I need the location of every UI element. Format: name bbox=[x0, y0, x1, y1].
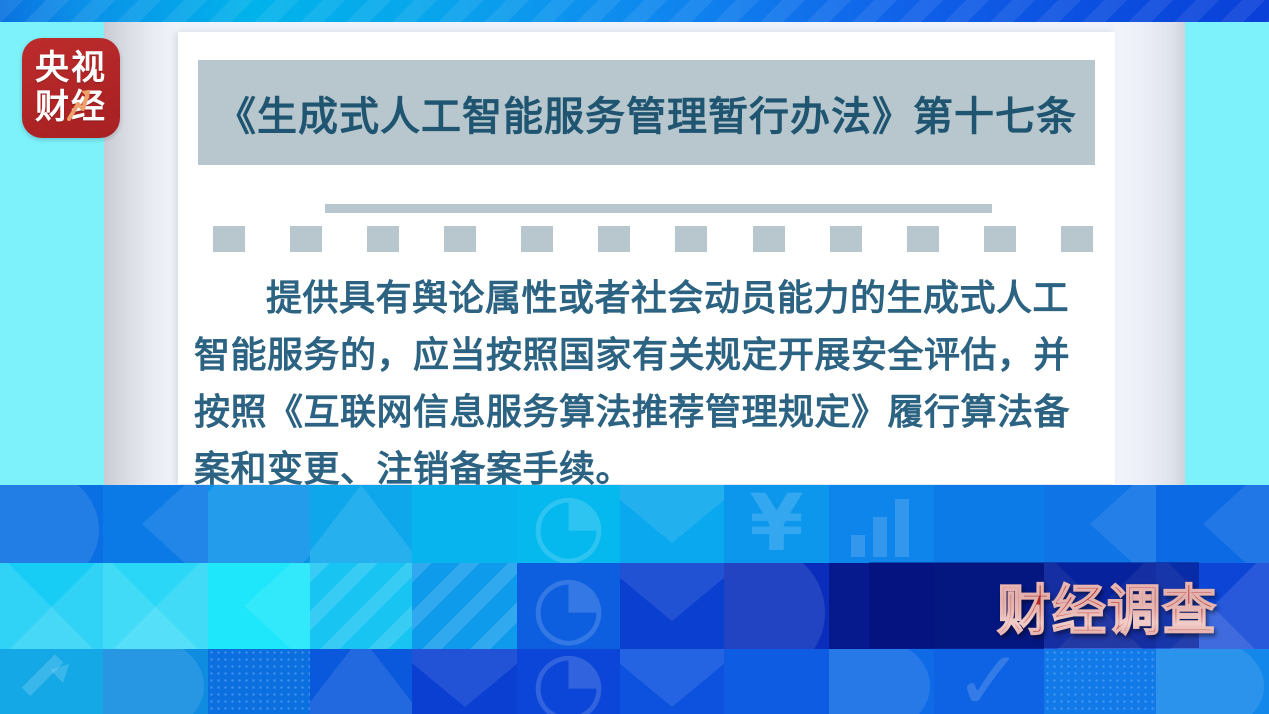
banner-tile bbox=[208, 485, 310, 563]
banner-tile bbox=[208, 649, 310, 714]
banner-row-top: ◔¥ bbox=[0, 485, 1269, 563]
banner-tile: ✓ bbox=[934, 649, 1044, 714]
triangle-left-icon bbox=[1090, 485, 1156, 563]
cross-diagonal-icon bbox=[0, 563, 103, 649]
banner-tile bbox=[934, 485, 1044, 563]
cross-diagonal-icon bbox=[103, 563, 208, 649]
banner-tile bbox=[208, 563, 310, 649]
dash-block bbox=[830, 226, 862, 252]
dot-texture bbox=[1044, 649, 1156, 714]
banner-tile bbox=[0, 563, 103, 649]
banner-tile bbox=[620, 563, 724, 649]
title-underline-bar bbox=[325, 204, 992, 213]
clock-icon: ◔ bbox=[517, 563, 620, 649]
banner-tile bbox=[310, 563, 412, 649]
cctv-finance-logo: 央视 财经 bbox=[22, 38, 120, 138]
triangle-left-icon bbox=[244, 563, 310, 649]
clock-icon: ◔ bbox=[517, 485, 620, 563]
dash-block bbox=[1061, 226, 1093, 252]
dash-block bbox=[213, 226, 245, 252]
banner-tile: ◔ bbox=[517, 649, 620, 714]
triangle-up-icon bbox=[310, 649, 412, 714]
banner-tile bbox=[1044, 485, 1156, 563]
dash-block bbox=[598, 226, 630, 252]
right-cyan-band bbox=[1185, 22, 1269, 485]
bottom-graphic-banner: ◔¥ ◔ ◔✓ 财经调查 bbox=[0, 485, 1269, 714]
dash-block bbox=[521, 226, 553, 252]
banner-tile bbox=[1044, 649, 1156, 714]
banner-tile: ¥ bbox=[724, 485, 829, 563]
banner-tile bbox=[724, 649, 829, 714]
chevron-down-icon bbox=[620, 649, 724, 707]
card-title-band: 《生成式人工智能服务管理暂行办法》第十七条 bbox=[198, 60, 1095, 165]
logo-line-one: 央视 bbox=[22, 51, 120, 85]
triangle-left-icon bbox=[1203, 485, 1269, 563]
banner-tile bbox=[412, 485, 517, 563]
bar-chart-icon bbox=[851, 535, 865, 557]
dash-block bbox=[675, 226, 707, 252]
triangle-up-icon bbox=[310, 485, 412, 563]
banner-tile bbox=[620, 649, 724, 714]
body-line: 提供具有舆论属性或者社会动员能力的生成式人工 bbox=[194, 270, 1099, 327]
dot-texture bbox=[208, 649, 310, 714]
triangle-left-icon bbox=[142, 485, 208, 563]
dash-block bbox=[444, 226, 476, 252]
diagonal-stripes bbox=[310, 563, 412, 649]
banner-tile: ◔ bbox=[517, 563, 620, 649]
check-icon: ✓ bbox=[934, 649, 1044, 714]
bar-chart-icon bbox=[873, 517, 887, 557]
dash-block bbox=[984, 226, 1016, 252]
banner-tile bbox=[103, 485, 208, 563]
dash-block bbox=[907, 226, 939, 252]
banner-tile bbox=[829, 649, 934, 714]
diagonal-stripes bbox=[412, 563, 517, 649]
dash-block bbox=[367, 226, 399, 252]
logo-line-two: 财经 bbox=[22, 90, 120, 124]
banner-tile bbox=[1156, 649, 1269, 714]
banner-tile bbox=[724, 563, 829, 649]
banner-tile bbox=[1156, 485, 1269, 563]
banner-tile bbox=[0, 649, 103, 714]
chevron-down-icon bbox=[620, 485, 724, 543]
circle-icon bbox=[103, 649, 204, 714]
banner-tile bbox=[103, 563, 208, 649]
banner-tile bbox=[0, 485, 103, 563]
banner-tile bbox=[620, 485, 724, 563]
body-line: 智能服务的，应当按照国家有关规定开展安全评估，并 bbox=[194, 327, 1099, 384]
banner-tile bbox=[829, 485, 934, 563]
dash-block bbox=[290, 226, 322, 252]
body-line: 按照《互联网信息服务算法推荐管理规定》履行算法备 bbox=[194, 384, 1099, 441]
banner-row-bottom: ◔✓ bbox=[0, 649, 1269, 714]
circle-icon bbox=[724, 563, 825, 649]
regulation-card: 《生成式人工智能服务管理暂行办法》第十七条 提供具有舆论属性或者社会动员能力的生… bbox=[178, 32, 1115, 484]
circle-icon bbox=[1156, 649, 1264, 714]
decorative-dash-row bbox=[213, 226, 1093, 252]
program-title: 财经调查 bbox=[997, 566, 1217, 645]
broadcast-screen: 《生成式人工智能服务管理暂行办法》第十七条 提供具有舆论属性或者社会动员能力的生… bbox=[0, 0, 1269, 714]
top-accent-bar bbox=[0, 0, 1269, 22]
chevron-down-icon bbox=[412, 649, 517, 707]
banner-tile bbox=[103, 649, 208, 714]
bar-chart-icon bbox=[895, 499, 909, 557]
program-logo: 财经调查 bbox=[997, 562, 1217, 648]
diamond-icon bbox=[208, 485, 310, 563]
regulation-body: 提供具有舆论属性或者社会动员能力的生成式人工 智能服务的，应当按照国家有关规定开… bbox=[194, 270, 1099, 498]
page-title: 《生成式人工智能服务管理暂行办法》第十七条 bbox=[216, 84, 1077, 142]
circle-icon bbox=[0, 485, 99, 563]
banner-tile bbox=[412, 563, 517, 649]
banner-tile bbox=[412, 649, 517, 714]
chevron-down-icon bbox=[620, 563, 724, 621]
yuan-symbol: ¥ bbox=[724, 485, 829, 563]
banner-tile bbox=[310, 649, 412, 714]
clock-icon: ◔ bbox=[517, 649, 620, 714]
banner-tile bbox=[310, 485, 412, 563]
circle-icon bbox=[829, 649, 930, 714]
top-bar-texture bbox=[0, 0, 1269, 22]
dash-block bbox=[753, 226, 785, 252]
banner-tile: ◔ bbox=[517, 485, 620, 563]
right-gutter-gradient bbox=[1115, 22, 1185, 485]
